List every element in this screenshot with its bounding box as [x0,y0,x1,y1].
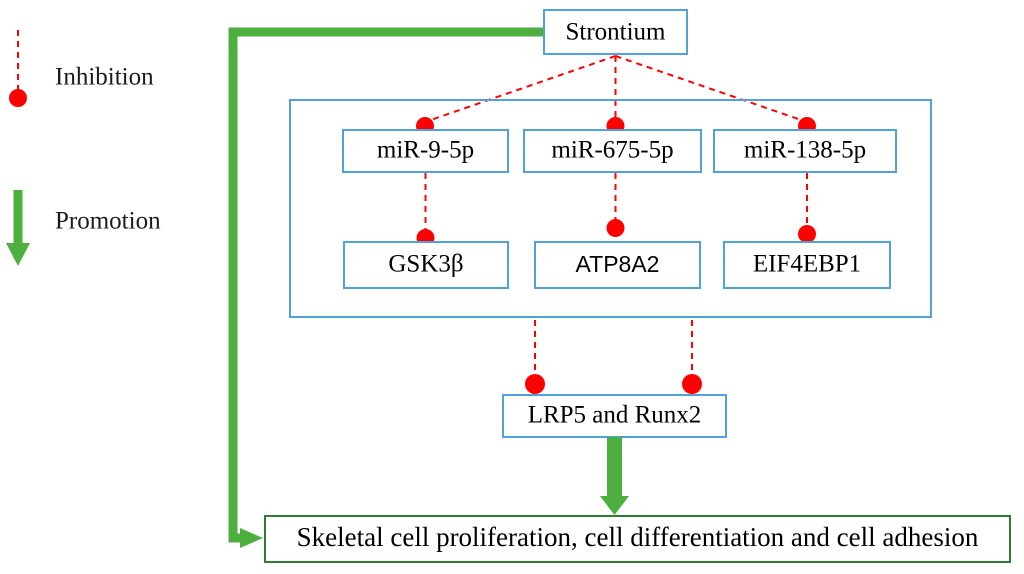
edge-strontium-mir9-line [425,56,616,122]
node-atp8a2[interactable]: ATP8A2 [535,242,700,288]
edge-strontium-mir138-line [616,56,808,122]
node-mir-9-5p-label: miR-9-5p [377,137,474,164]
inhibition-dot-icon [9,89,27,107]
edge-mir138-eif4ebp1-dot-icon [798,225,816,243]
node-strontium[interactable]: Strontium [544,10,687,54]
edge-lrp5-to-outcome-promotion [600,437,629,515]
node-lrp5-runx2[interactable]: LRP5 and Runx2 [503,395,726,437]
promotion-arrowhead-lrp5-outcome-icon [600,496,629,515]
edge-mir675-atp8a2-dot-icon [607,219,625,237]
node-outcome-label: Skeletal cell proliferation, cell differ… [297,522,979,552]
node-eif4ebp1[interactable]: EIF4EBP1 [724,242,890,288]
legend-item-promotion: Promotion [6,190,161,266]
legend-label-inhibition: Inhibition [55,64,154,91]
edge-strontium-to-mirnas [416,56,816,135]
node-lrp5-runx2-label: LRP5 and Runx2 [528,402,702,429]
node-mir-138-5p[interactable]: miR-138-5p [714,130,896,172]
promotion-shaft-lrp5-outcome [607,437,622,499]
node-strontium-label: Strontium [565,19,666,46]
promotion-arrow-head-icon [6,243,30,266]
node-mir-675-5p[interactable]: miR-675-5p [524,130,701,172]
node-eif4ebp1-label: EIF4EBP1 [753,251,861,278]
legend-label-promotion: Promotion [55,208,161,235]
promotion-path-arrowhead-icon [240,528,263,548]
node-gsk3b-label: GSK3β [388,251,463,278]
edge-atp8a2-lrp5-dot-icon [682,374,702,394]
edge-targets-to-lrp5-runx2 [525,320,702,394]
node-atp8a2-label: ATP8A2 [576,251,660,277]
edge-gsk3b-lrp5-dot-icon [525,374,545,394]
edge-strontium-to-outcome-promotion [233,32,544,548]
legend: Inhibition Promotion [6,30,161,266]
node-mir-138-5p-label: miR-138-5p [744,137,866,164]
node-outcome[interactable]: Skeletal cell proliferation, cell differ… [265,516,1010,562]
node-mir-675-5p-label: miR-675-5p [551,137,673,164]
node-gsk3b[interactable]: GSK3β [344,242,508,288]
promotion-arrow-shaft-icon [14,190,23,245]
node-mir-9-5p[interactable]: miR-9-5p [343,130,508,172]
pathway-diagram: Inhibition Promotion Strontium miR-9-5p [0,0,1024,574]
edge-mirnas-to-targets [417,173,817,247]
legend-item-inhibition: Inhibition [9,30,154,107]
